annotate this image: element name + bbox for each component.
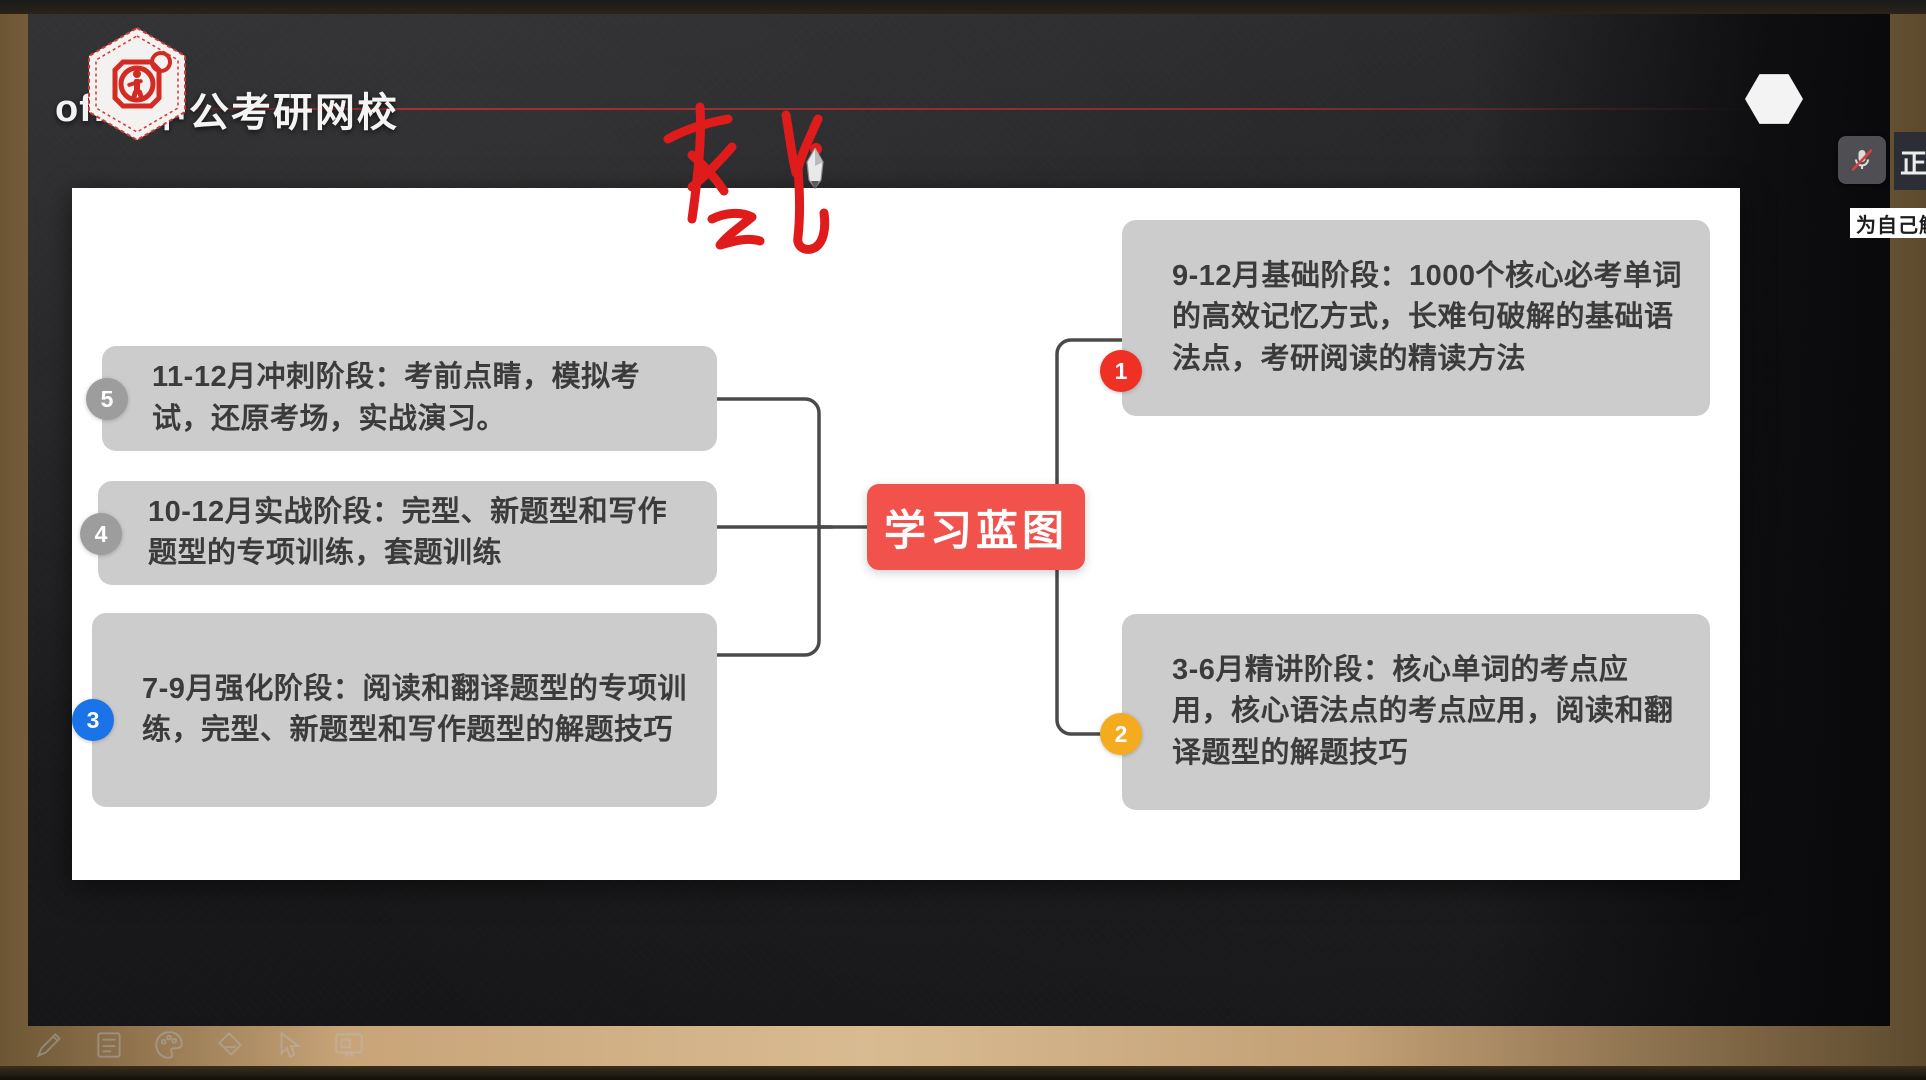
node-badge-5: 5 xyxy=(86,378,128,420)
mindmap: 学习蓝图 1 9-12月基础阶段：1000个核心必考单词的高效记忆方式，长难句破… xyxy=(72,188,1740,880)
mindmap-node-5[interactable]: 5 11-12月冲刺阶段：考前点睛，模拟考试，还原考场，实战演习。 xyxy=(102,346,717,451)
node-text-1: 9-12月基础阶段：1000个核心必考单词的高效记忆方式，长难句破解的基础语法点… xyxy=(1122,256,1710,380)
node-badge-3: 3 xyxy=(72,699,114,741)
pointer-icon[interactable] xyxy=(270,1026,308,1064)
mindmap-center-node[interactable]: 学习蓝图 xyxy=(867,484,1085,570)
microphone-muted-icon[interactable] xyxy=(1838,136,1886,184)
node-text-2: 3-6月精讲阶段：核心单词的考点应用，核心语法点的考点应用，阅读和翻译题型的解题… xyxy=(1122,650,1710,774)
node-text-5: 11-12月冲刺阶段：考前点睛，模拟考试，还原考场，实战演习。 xyxy=(102,357,717,439)
frame-top-edge xyxy=(0,0,1926,14)
center-node-label: 学习蓝图 xyxy=(884,497,1068,558)
node-badge-1: 1 xyxy=(1100,350,1142,392)
mindmap-node-2[interactable]: 2 3-6月精讲阶段：核心单词的考点应用，核心语法点的考点应用，阅读和翻译题型的… xyxy=(1122,614,1710,810)
pen-icon[interactable] xyxy=(30,1026,68,1064)
tooltip: 为自己解 xyxy=(1850,208,1926,238)
whiteboard-icon[interactable] xyxy=(330,1026,368,1064)
tooltip-text: 为自己解 xyxy=(1856,209,1926,238)
node-badge-2: 2 xyxy=(1100,713,1142,755)
document-icon[interactable] xyxy=(90,1026,128,1064)
frame-bottom-edge xyxy=(0,1066,1926,1080)
palette-icon[interactable] xyxy=(150,1026,188,1064)
pen-cursor-icon xyxy=(800,148,830,192)
node-text-4: 10-12月实战阶段：完型、新题型和写作题型的专项训练，套题训练 xyxy=(98,492,717,574)
status-panel: 正 xyxy=(1894,132,1926,190)
node-badge-4: 4 xyxy=(80,513,122,555)
mindmap-node-3[interactable]: 3 7-9月强化阶段：阅读和翻译题型的专项训练，完型、新题型和写作题型的解题技巧 xyxy=(92,613,717,807)
presentation-slide: 学习蓝图 1 9-12月基础阶段：1000个核心必考单词的高效记忆方式，长难句破… xyxy=(72,188,1740,880)
mindmap-node-1[interactable]: 1 9-12月基础阶段：1000个核心必考单词的高效记忆方式，长难句破解的基础语… xyxy=(1122,220,1710,416)
status-text: 正 xyxy=(1900,142,1926,181)
node-text-3: 7-9月强化阶段：阅读和翻译题型的专项训练，完型、新题型和写作题型的解题技巧 xyxy=(92,669,717,751)
brand-logo-icon xyxy=(85,26,189,142)
mindmap-node-4[interactable]: 4 10-12月实战阶段：完型、新题型和写作题型的专项训练，套题训练 xyxy=(98,481,717,585)
screen: offcn 中公考研网校 xyxy=(0,0,1926,1080)
eraser-icon[interactable] xyxy=(210,1026,248,1064)
bottom-toolbar[interactable] xyxy=(30,1026,368,1064)
